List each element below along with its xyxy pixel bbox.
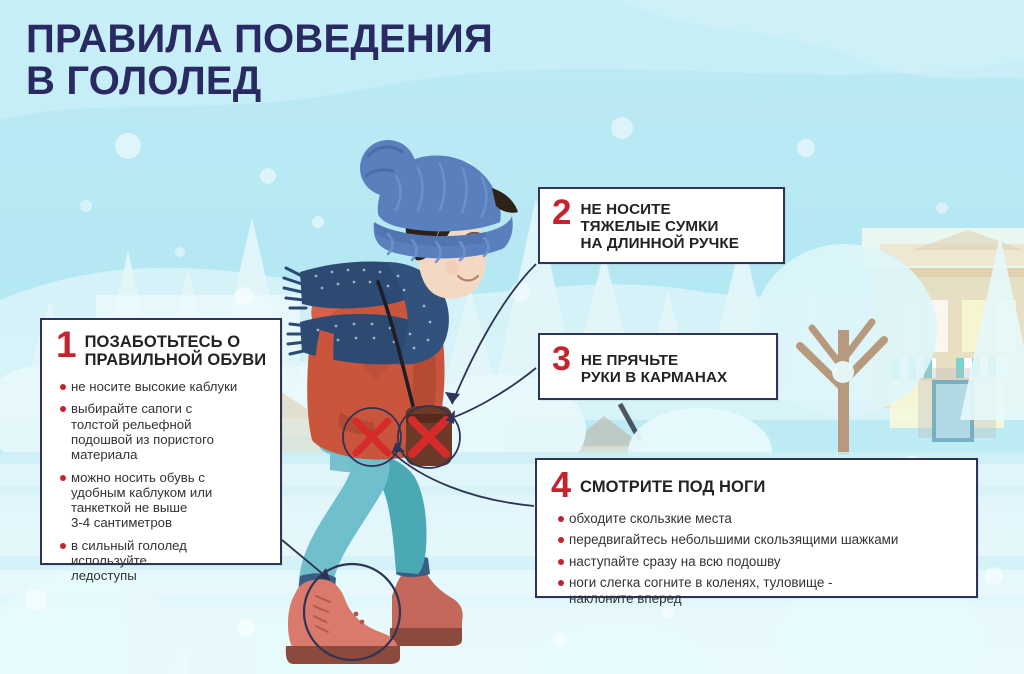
rule-3-number: 3 bbox=[552, 345, 571, 375]
rule-3-heading: НЕ ПРЯЧЬТЕ РУКИ В КАРМАНАХ bbox=[581, 346, 727, 386]
knit-hat bbox=[360, 140, 518, 262]
list-item: обходите скользкие места bbox=[569, 511, 966, 527]
rule-block-2: 2 НЕ НОСИТЕ ТЯЖЕЛЫЕ СУМКИ НА ДЛИННОЙ РУЧ… bbox=[538, 187, 785, 264]
list-item: не носите высокие каблуки bbox=[71, 379, 267, 394]
rule-1-header: 1 ПОЗАБОТЬТЕСЬ О ПРАВИЛЬНОЙ ОБУВИ bbox=[56, 331, 267, 370]
list-item: в сильный гололед используйте ледоступы bbox=[71, 538, 267, 584]
rule-2-number: 2 bbox=[552, 198, 571, 229]
rule-2-heading: НЕ НОСИТЕ ТЯЖЕЛЫЕ СУМКИ НА ДЛИННОЙ РУЧКЕ bbox=[580, 198, 738, 252]
rule-4-number: 4 bbox=[551, 469, 571, 501]
list-item: можно носить обувь с удобным каблуком ил… bbox=[71, 470, 267, 531]
rule-4-header: 4 СМОТРИТЕ ПОД НОГИ bbox=[551, 470, 966, 501]
front-boot bbox=[286, 573, 400, 664]
rule-block-1: 1 ПОЗАБОТЬТЕСЬ О ПРАВИЛЬНОЙ ОБУВИ не нос… bbox=[40, 318, 282, 565]
rule-3-header: 3 НЕ ПРЯЧЬТЕ РУКИ В КАРМАНАХ bbox=[552, 346, 766, 386]
rule-2-header: 2 НЕ НОСИТЕ ТЯЖЕЛЫЕ СУМКИ НА ДЛИННОЙ РУЧ… bbox=[552, 198, 773, 252]
list-item: передвигайтесь небольшими скользящими ша… bbox=[569, 532, 966, 548]
rule-block-4: 4 СМОТРИТЕ ПОД НОГИ обходите скользкие м… bbox=[535, 458, 978, 598]
list-item: выбирайте сапоги с толстой рельефной под… bbox=[71, 401, 267, 462]
rule-4-bullet-list: обходите скользкие места передвигайтесь … bbox=[569, 511, 966, 607]
rule-1-number: 1 bbox=[56, 329, 77, 362]
list-item: ноги слегка согните в коленях, туловище … bbox=[569, 575, 966, 606]
page-title: ПРАВИЛА ПОВЕДЕНИЯ В ГОЛОЛЕД bbox=[26, 18, 493, 102]
rule-1-heading: ПОЗАБОТЬТЕСЬ О ПРАВИЛЬНОЙ ОБУВИ bbox=[85, 331, 267, 370]
rule-block-3: 3 НЕ ПРЯЧЬТЕ РУКИ В КАРМАНАХ bbox=[538, 333, 778, 400]
list-item: наступайте сразу на всю подошву bbox=[569, 554, 966, 570]
rule-4-heading: СМОТРИТЕ ПОД НОГИ bbox=[580, 470, 765, 496]
rule-1-bullet-list: не носите высокие каблуки выбирайте сапо… bbox=[71, 379, 267, 584]
walking-woman-figure bbox=[284, 140, 518, 664]
infographic-poster: ПРАВИЛА ПОВЕДЕНИЯ В ГОЛОЛЕД 1 ПОЗАБОТЬТЕ… bbox=[0, 0, 1024, 674]
